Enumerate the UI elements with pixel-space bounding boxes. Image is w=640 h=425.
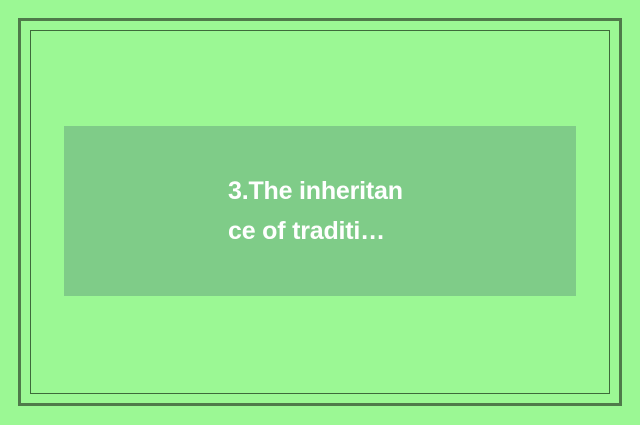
content-box: 3.The inheritan ce of traditi…: [64, 126, 576, 296]
slide-canvas: 3.The inheritan ce of traditi…: [0, 0, 640, 425]
slide-title-text: 3.The inheritan ce of traditi…: [228, 171, 558, 251]
